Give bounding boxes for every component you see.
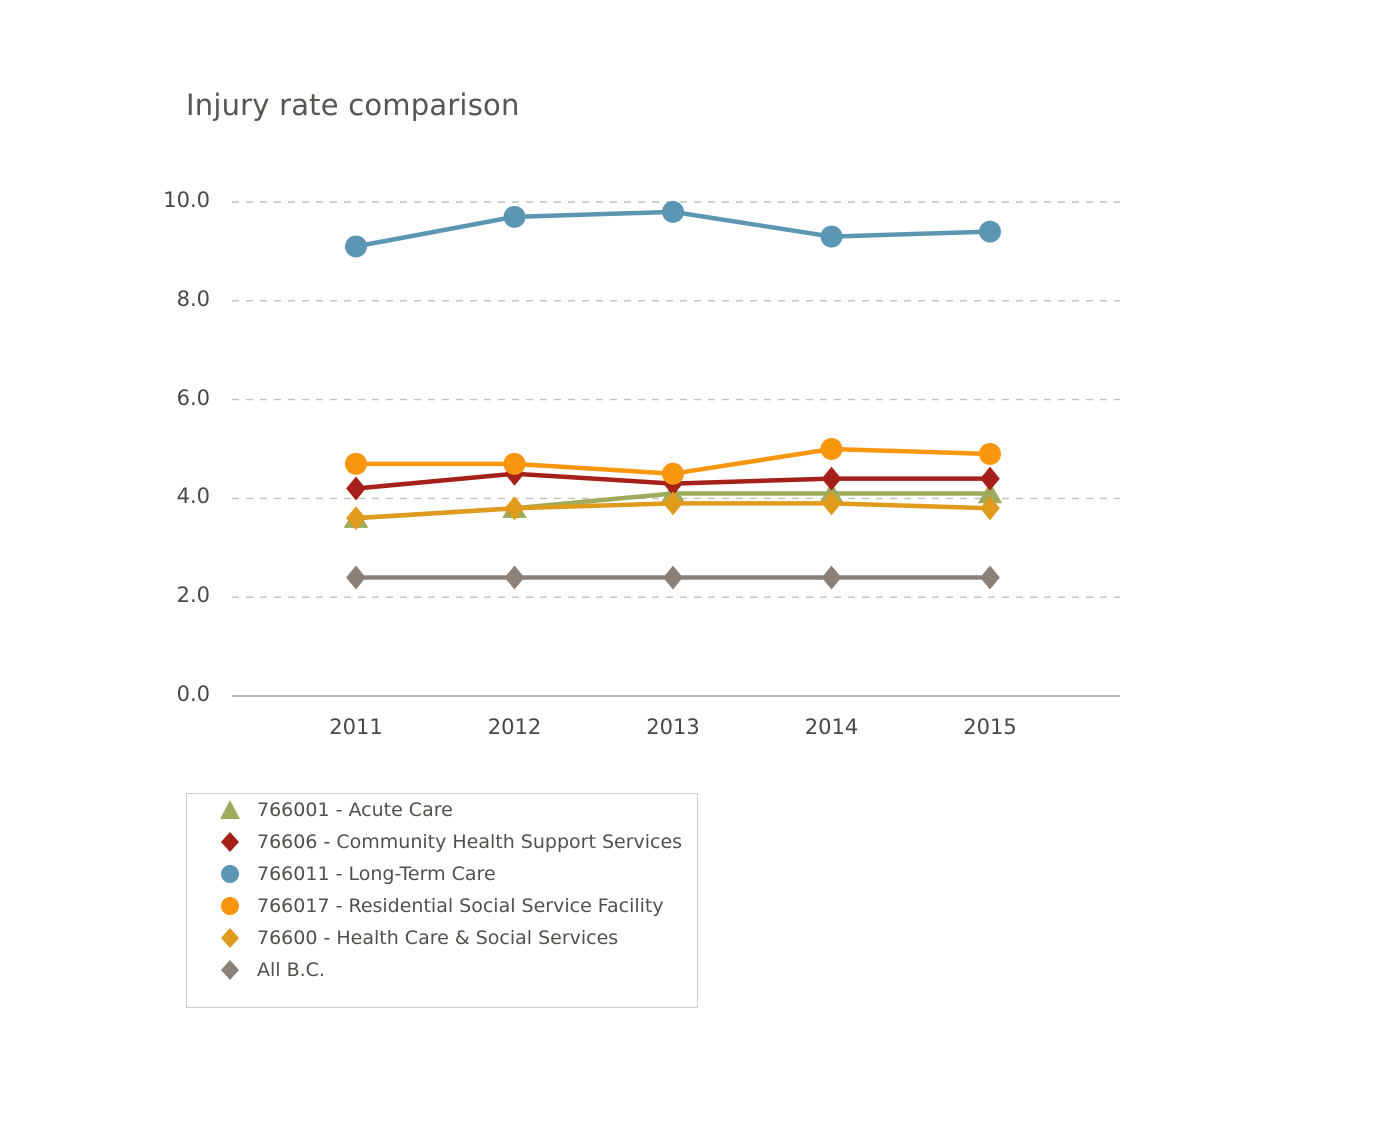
y-tick-label: 2.0 [140,583,210,607]
data-point-diamond [346,565,366,589]
legend-item-label: 766001 - Acute Care [257,799,453,821]
y-tick-label: 6.0 [140,386,210,410]
x-tick-label: 2013 [623,715,723,739]
legend-item[interactable]: 766017 - Residential Social Service Faci… [187,890,697,922]
legend-item-label: 76606 - Community Health Support Service… [257,831,682,853]
circle-icon [215,861,245,887]
x-tick-label: 2012 [465,715,565,739]
x-tick-label: 2015 [940,715,1040,739]
data-point-circle [504,206,526,228]
data-point-circle [504,453,526,475]
data-point-circle [979,443,1001,465]
y-tick-label: 4.0 [140,484,210,508]
x-tick-label: 2014 [782,715,882,739]
data-point-circle [821,226,843,248]
circle-icon [215,893,245,919]
data-point-circle [345,235,367,257]
legend-item-label: All B.C. [257,959,325,981]
y-tick-label: 8.0 [140,287,210,311]
diamond-icon [215,925,245,951]
series-line [346,491,1000,530]
data-point-circle [662,201,684,223]
chart-legend: 766001 - Acute Care76606 - Community Hea… [186,793,698,1008]
y-tick-label: 10.0 [140,188,210,212]
data-point-diamond [822,467,842,491]
data-point-diamond [980,467,1000,491]
y-tick-label: 0.0 [140,682,210,706]
data-point-diamond [822,565,842,589]
diamond-icon [215,829,245,855]
legend-item[interactable]: 766011 - Long-Term Care [187,858,697,890]
data-point-circle [821,438,843,460]
triangle-icon [215,797,245,823]
data-point-diamond [346,477,366,501]
diamond-icon [215,957,245,983]
legend-item-label: 766011 - Long-Term Care [257,863,496,885]
data-point-circle [345,453,367,475]
data-point-diamond [980,565,1000,589]
data-point-circle [979,221,1001,243]
chart-container: Injury rate comparison 0.02.04.06.08.010… [0,0,1380,1123]
legend-item[interactable]: 76600 - Health Care & Social Services [187,922,697,954]
data-point-circle [662,463,684,485]
data-point-diamond [505,565,525,589]
series-line [346,565,1000,589]
legend-item[interactable]: 766001 - Acute Care [187,794,697,826]
series-line [345,201,1001,258]
legend-item-label: 766017 - Residential Social Service Faci… [257,895,664,917]
data-point-diamond [663,565,683,589]
legend-item-label: 76600 - Health Care & Social Services [257,927,618,949]
legend-item[interactable]: 76606 - Community Health Support Service… [187,826,697,858]
x-tick-label: 2011 [306,715,406,739]
legend-item[interactable]: All B.C. [187,954,697,986]
